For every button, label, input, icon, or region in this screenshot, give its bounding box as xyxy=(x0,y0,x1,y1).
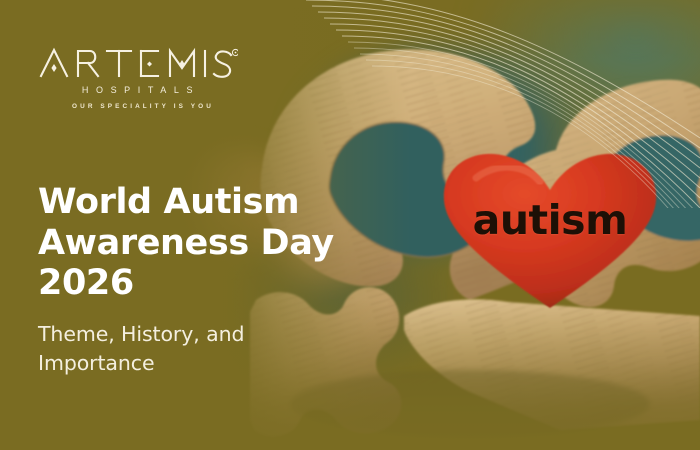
logo-tagline: OUR SPECIALITY IS YOU xyxy=(38,103,238,110)
page-subtitle: Theme, History, and Importance xyxy=(38,320,368,378)
headline-block: World Autism Awareness Day 2026 Theme, H… xyxy=(38,182,368,378)
page-title: World Autism Awareness Day 2026 xyxy=(38,182,368,304)
logo-subtitle: HOSPITALS xyxy=(38,85,238,95)
artemis-wordmark-icon xyxy=(38,46,238,78)
artemis-wordmark-mark xyxy=(38,46,238,78)
banner: autism xyxy=(0,0,700,450)
artemis-logo[interactable]: HOSPITALS OUR SPECIALITY IS YOU xyxy=(38,46,238,110)
